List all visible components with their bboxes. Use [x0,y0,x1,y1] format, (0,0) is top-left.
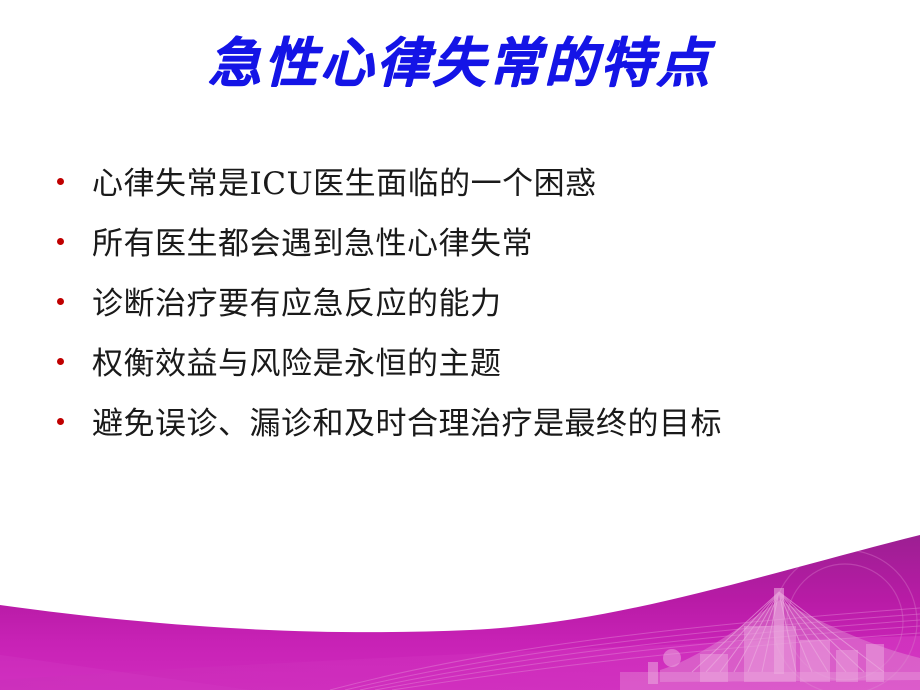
bullet-dot-icon [57,418,64,425]
wave-band [0,535,920,690]
list-item: 心律失常是ICU医生面临的一个困惑 [50,164,880,224]
list-item-label: 避免误诊、漏诊和及时合理治疗是最终的目标 [92,404,880,444]
bullet-dot-icon [57,298,64,305]
list-item-label: 权衡效益与风险是永恒的主题 [92,344,880,384]
list-item-label: 心律失常是ICU医生面临的一个困惑 [92,164,880,204]
list-item: 权衡效益与风险是永恒的主题 [50,344,880,404]
bullet-marker [50,224,92,245]
bullet-marker [50,164,92,185]
bridge-and-buildings-silhouette [620,588,920,690]
presentation-slide: 急性心律失常的特点 心律失常是ICU医生面临的一个困惑 所有医生都会遇到急性心律… [0,0,920,690]
bullet-list: 心律失常是ICU医生面临的一个困惑 所有医生都会遇到急性心律失常 诊断治疗要有应… [50,164,880,464]
bullet-marker [50,404,92,425]
list-item: 所有医生都会遇到急性心律失常 [50,224,880,284]
list-item: 诊断治疗要有应急反应的能力 [50,284,880,344]
wave-streak-left [0,652,250,690]
wave-circle-outlines [773,550,917,690]
wave-arc-lines [330,608,920,690]
list-item: 避免误诊、漏诊和及时合理治疗是最终的目标 [50,404,880,464]
bullet-dot-icon [57,238,64,245]
list-item-label: 所有医生都会遇到急性心律失常 [92,224,880,264]
bullet-marker [50,344,92,365]
list-item-label: 诊断治疗要有应急反应的能力 [92,284,880,324]
page-title: 急性心律失常的特点 [0,33,920,93]
wave-highlight [0,636,920,690]
footer-decoration [0,530,920,690]
bullet-dot-icon [57,178,64,185]
bullet-marker [50,284,92,305]
bullet-dot-icon [57,358,64,365]
magenta-wave-graphic [0,530,920,690]
